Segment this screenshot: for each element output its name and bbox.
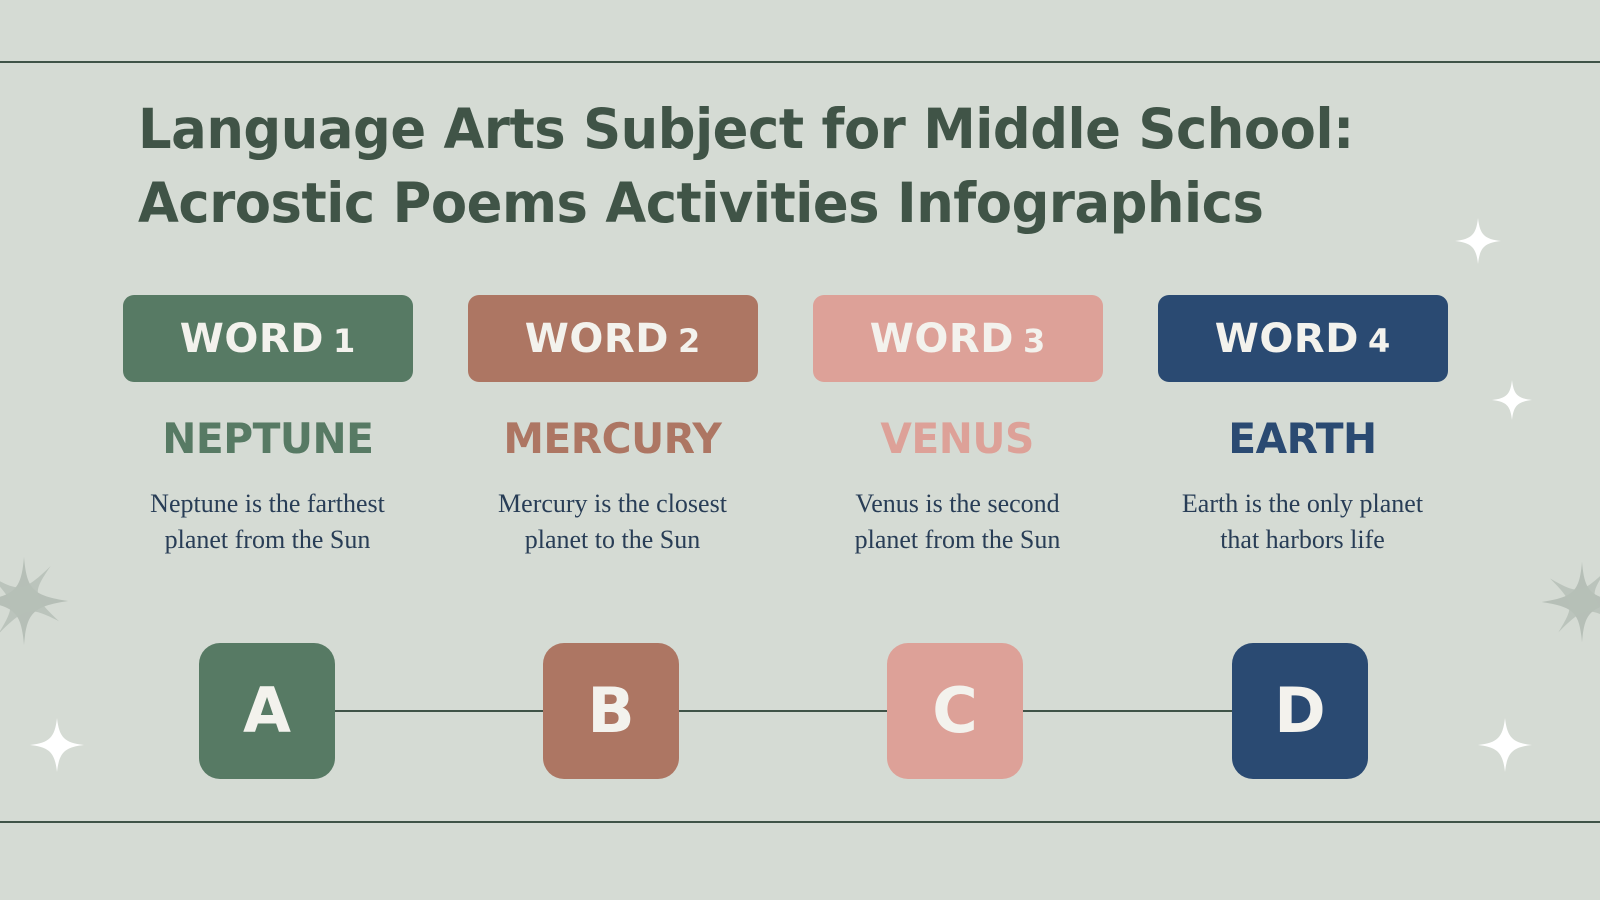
column-word-3: WORD 3 VENUS Venus is the second planet … xyxy=(785,295,1130,558)
word-badge-label-4: WORD xyxy=(1215,319,1359,359)
letter-square-b-label: B xyxy=(587,680,634,742)
letter-square-c[interactable]: C xyxy=(887,643,1023,779)
planet-name-2: MERCURY xyxy=(504,418,722,460)
divider-top xyxy=(0,61,1600,63)
column-word-4: WORD 4 EARTH Earth is the only planet th… xyxy=(1130,295,1475,558)
column-word-2: WORD 2 MERCURY Mercury is the closest pl… xyxy=(440,295,785,558)
page-title: Language Arts Subject for Middle School:… xyxy=(138,93,1386,240)
star-burst-left-icon xyxy=(0,555,70,647)
slide-canvas: Language Arts Subject for Middle School:… xyxy=(0,0,1600,900)
connector-line xyxy=(267,710,1302,712)
star-burst-right-icon xyxy=(1540,560,1600,644)
planet-description-4: Earth is the only planet that harbors li… xyxy=(1178,486,1428,558)
word-badge-2[interactable]: WORD 2 xyxy=(468,295,758,382)
letter-square-b[interactable]: B xyxy=(543,643,679,779)
word-badge-label-2: WORD xyxy=(525,319,669,359)
word-badge-number-1: 1 xyxy=(333,325,355,357)
word-badge-number-2: 2 xyxy=(678,325,700,357)
planet-description-1: Neptune is the farthest planet from the … xyxy=(143,486,393,558)
letter-square-a-label: A xyxy=(243,680,291,742)
letter-square-a[interactable]: A xyxy=(199,643,335,779)
planet-name-3: VENUS xyxy=(881,418,1034,460)
word-badge-number-3: 3 xyxy=(1023,325,1045,357)
word-badge-4[interactable]: WORD 4 xyxy=(1158,295,1448,382)
letter-square-d-label: D xyxy=(1274,680,1325,742)
planet-name-1: NEPTUNE xyxy=(162,418,373,460)
planet-description-3: Venus is the second planet from the Sun xyxy=(833,486,1083,558)
letter-square-d[interactable]: D xyxy=(1232,643,1368,779)
divider-bottom xyxy=(0,821,1600,823)
word-badge-label-1: WORD xyxy=(180,319,324,359)
columns-container: WORD 1 NEPTUNE Neptune is the farthest p… xyxy=(0,295,1600,558)
column-word-1: WORD 1 NEPTUNE Neptune is the farthest p… xyxy=(95,295,440,558)
letter-square-c-label: C xyxy=(932,680,978,742)
letter-sequence-row: A B C D xyxy=(0,643,1600,779)
word-badge-1[interactable]: WORD 1 xyxy=(123,295,413,382)
word-badge-number-4: 4 xyxy=(1368,325,1390,357)
word-badge-label-3: WORD xyxy=(870,319,1014,359)
word-badge-3[interactable]: WORD 3 xyxy=(813,295,1103,382)
planet-description-2: Mercury is the closest planet to the Sun xyxy=(488,486,738,558)
sparkle-top-right-icon xyxy=(1455,218,1501,264)
planet-name-4: EARTH xyxy=(1228,418,1376,460)
